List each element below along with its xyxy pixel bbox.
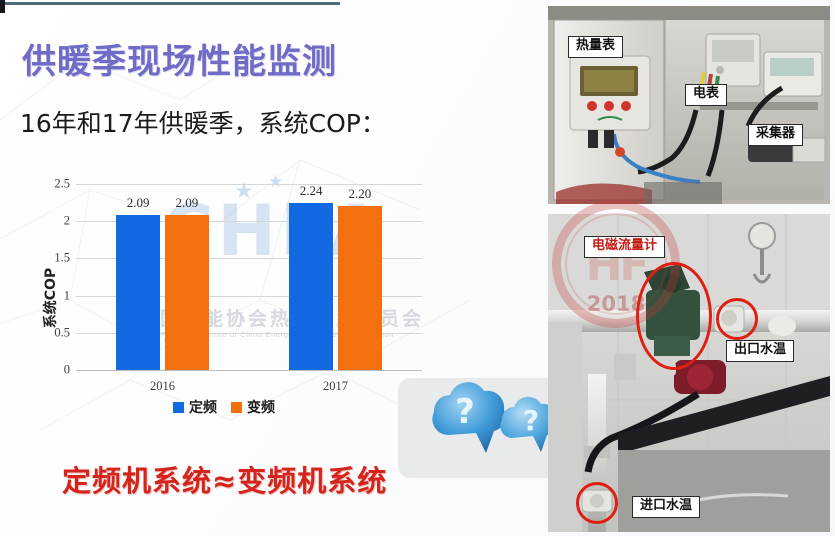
legend-label: 定频 — [189, 397, 217, 417]
legend-item-定频[interactable]: 定频 — [173, 397, 217, 417]
y-axis-title: 系统COP — [40, 267, 60, 327]
bar-value-label: 2.24 — [300, 183, 323, 199]
annotation-outlet-water-temp: 出口水温 — [726, 340, 794, 362]
photo-metering-cabinet: 热量表 电表 采集器 — [548, 6, 830, 204]
legend-swatch-icon — [231, 402, 242, 413]
bar-2017-变频: 2.20 — [338, 206, 381, 370]
question-mark-left: ? — [455, 392, 475, 432]
legend-swatch-icon — [173, 402, 184, 413]
question-clouds-image: ? ? — [398, 378, 570, 478]
circle-highlight-inlet-sensor — [576, 482, 618, 524]
gridline — [76, 184, 422, 185]
annotation-heat-meter: 热量表 — [568, 36, 623, 58]
slide-canvas: 供暖季现场性能监测 16年和17年供暖季，系统COP： 系统COP ★ ★ CH… — [0, 0, 835, 536]
bar-value-label: 2.09 — [127, 195, 150, 211]
x-axis-tick-2016: 2016 — [150, 379, 175, 394]
chart-plot-area: ★ ★ CHPA 中国节能协会热泵专业委员会 Heat Pump Committ… — [76, 184, 422, 370]
legend-item-变频[interactable]: 变频 — [231, 397, 275, 417]
x-axis-tick-2017: 2017 — [323, 379, 348, 394]
bar-2016-定频: 2.09 — [116, 215, 159, 370]
bar-2017-定频: 2.24 — [289, 203, 332, 370]
page-subtitle: 16年和17年供暖季，系统COP： — [20, 104, 386, 140]
conclusion-text: 定频机系统≈变频机系统 — [62, 458, 387, 500]
star-icon: ★ — [234, 178, 254, 204]
annotation-inlet-water-temp: 进口水温 — [632, 496, 700, 518]
thought-cloud-graphic: ? ? — [398, 378, 570, 478]
y-axis-tick: 1 — [64, 288, 70, 303]
circle-highlight-flowmeter — [636, 262, 712, 370]
annotation-flowmeter: 电磁流量计 — [584, 236, 665, 258]
bar-2016-变频: 2.09 — [165, 215, 208, 370]
y-axis-tick: 1.5 — [54, 251, 70, 266]
page-title: 供暖季现场性能监测 — [22, 34, 337, 83]
legend-label: 变频 — [247, 397, 275, 417]
question-mark-right: ? — [523, 404, 539, 437]
y-axis-tick: 2 — [64, 214, 70, 229]
circle-highlight-outlet-sensor — [716, 298, 758, 340]
bar-value-label: 2.20 — [349, 186, 372, 202]
y-axis-tick: 2.5 — [54, 177, 70, 192]
photo-pipework-sensors: 电磁流量计 出口水温 进口水温 — [548, 214, 830, 532]
y-axis-tick: 0 — [64, 363, 70, 378]
chart-legend: 定频变频 — [14, 397, 434, 417]
bar-value-label: 2.09 — [176, 195, 199, 211]
cop-bar-chart: 系统COP ★ ★ CHPA 中国节能协会热泵专业委员会 Heat Pump C… — [14, 170, 434, 425]
star-icon: ★ — [268, 172, 283, 192]
y-axis-tick: 0.5 — [54, 325, 70, 340]
annotation-data-collector: 采集器 — [748, 124, 803, 146]
gridline — [76, 370, 422, 371]
top-divider-line — [5, 2, 340, 5]
annotation-electric-meter: 电表 — [685, 84, 727, 106]
